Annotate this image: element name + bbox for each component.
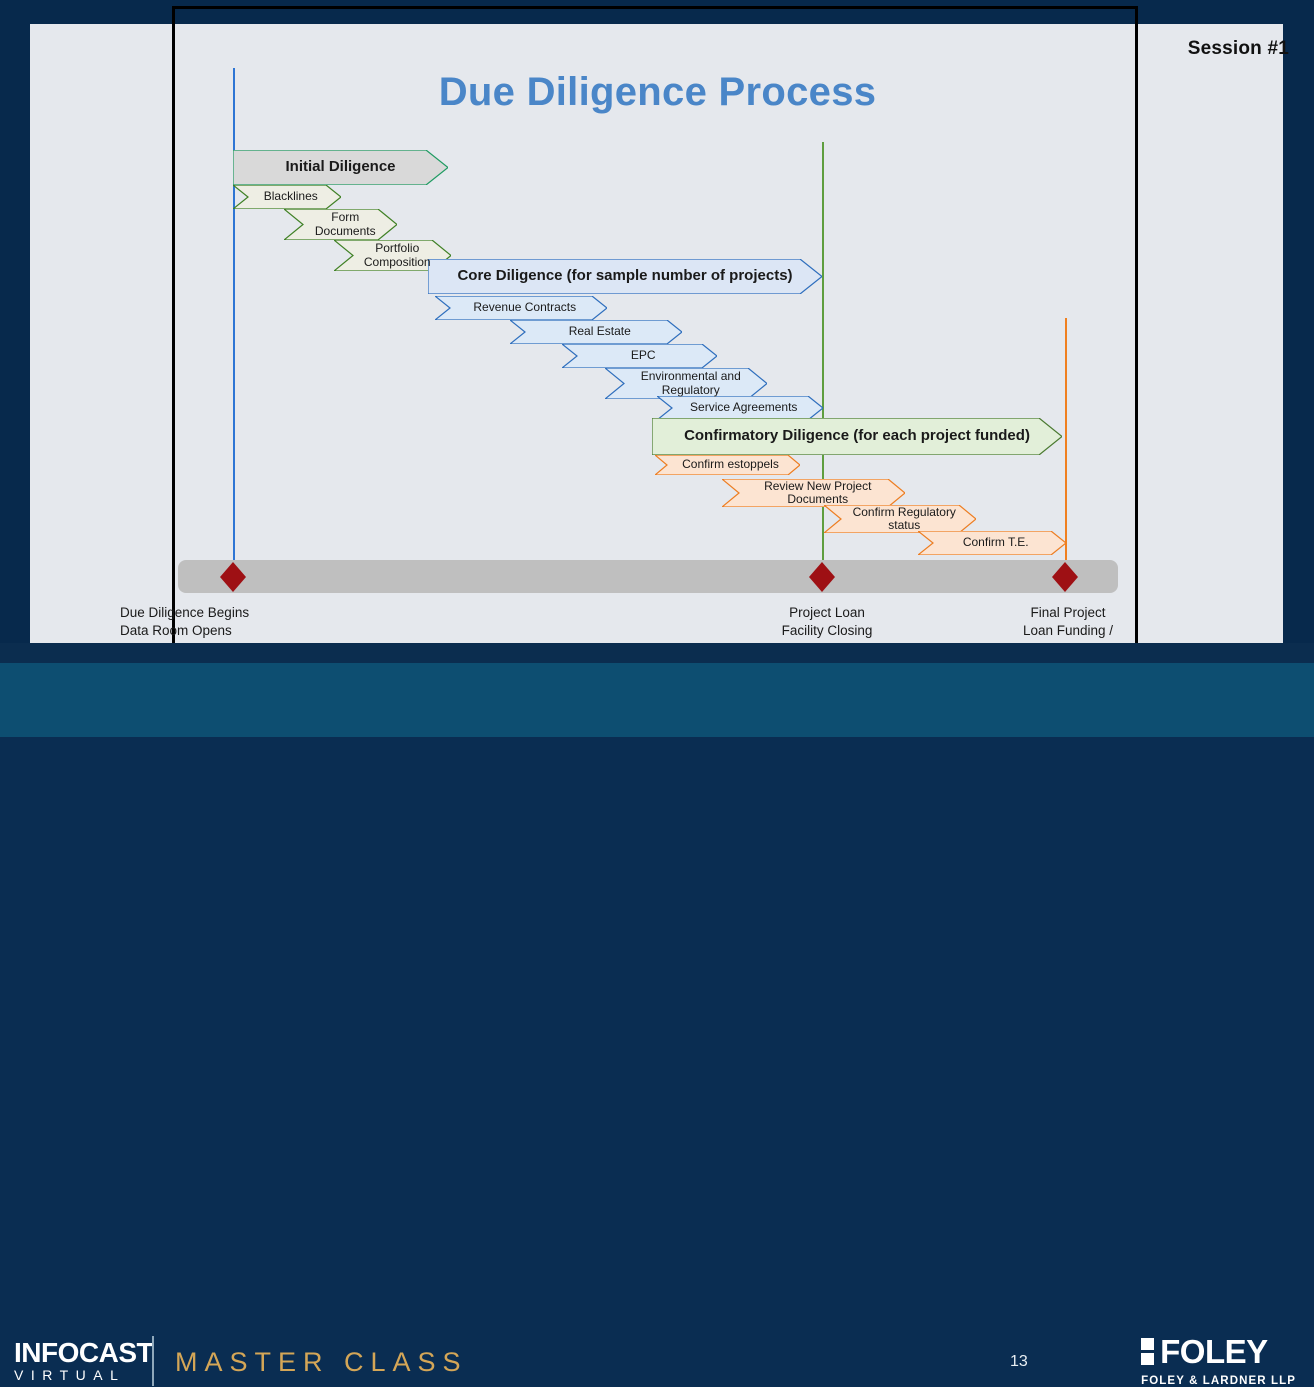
phase-step-core-diligence-3: Environmental and Regulatory xyxy=(605,368,767,399)
phase-header-confirmatory-diligence: Confirmatory Diligence (for each project… xyxy=(652,418,1062,455)
phase-step-confirmatory-diligence-0-label: Confirm estoppels xyxy=(676,458,785,471)
phase-header-initial-diligence: Initial Diligence xyxy=(233,150,448,185)
phase-step-core-diligence-1: Real Estate xyxy=(510,320,682,344)
foley-legal-name: FOLEY & LARDNER LLP xyxy=(1141,1375,1296,1387)
infocast-subtitle: VIRTUAL xyxy=(14,1367,153,1385)
phase-header-core-diligence: Core Diligence (for sample number of pro… xyxy=(428,259,822,294)
phase-step-initial-diligence-0-label: Blacklines xyxy=(258,190,324,203)
page-title: Due Diligence Process xyxy=(300,70,1015,115)
phase-step-confirmatory-diligence-0: Confirm estoppels xyxy=(655,455,800,475)
phase-step-core-diligence-2-label: EPC xyxy=(625,349,662,362)
phase-step-core-diligence-1-label: Real Estate xyxy=(563,325,637,338)
milestone-marker-1 xyxy=(809,562,835,592)
phase-header-confirmatory-diligence-label: Confirmatory Diligence (for each project… xyxy=(678,428,1036,445)
footer-bar: INFOCAST VIRTUAL MASTER CLASS 13 FOLEY F… xyxy=(0,663,1314,737)
diamond-icon xyxy=(809,562,835,592)
phase-step-core-diligence-0: Revenue Contracts xyxy=(435,296,607,320)
phase-step-core-diligence-2: EPC xyxy=(562,344,717,368)
phase-step-core-diligence-4: Service Agreements xyxy=(657,396,823,420)
footer-divider xyxy=(152,1336,154,1386)
phase-step-initial-diligence-1-label: Form Documents xyxy=(309,211,382,238)
diagram-stage: Due Diligence Process Initial DiligenceB… xyxy=(0,0,1314,660)
master-class-label: MASTER CLASS xyxy=(175,1347,468,1378)
milestone-label-1: Project Loan Facility Closing xyxy=(712,604,942,640)
milestone-marker-0 xyxy=(220,562,246,592)
infocast-wordmark: INFOCAST xyxy=(14,1339,153,1367)
phase-header-initial-diligence-label: Initial Diligence xyxy=(279,159,401,176)
phase-step-initial-diligence-1: Form Documents xyxy=(284,209,397,240)
infocast-logo: INFOCAST VIRTUAL xyxy=(14,1339,153,1385)
phase-header-core-diligence-label: Core Diligence (for sample number of pro… xyxy=(451,268,798,285)
phase-step-initial-diligence-0: Blacklines xyxy=(233,185,341,209)
guide-line-final-funding xyxy=(1065,318,1067,560)
milestone-label-0: Due Diligence Begins Data Room Opens xyxy=(120,604,350,640)
phase-step-core-diligence-0-label: Revenue Contracts xyxy=(467,301,582,314)
phase-step-confirmatory-diligence-2: Confirm Regulatory status xyxy=(824,505,976,533)
phase-step-core-diligence-4-label: Service Agreements xyxy=(684,401,803,414)
page-number: 13 xyxy=(1010,1353,1028,1371)
guide-line-due-diligence-start xyxy=(233,68,235,560)
footer-navy-strip xyxy=(0,643,1314,663)
foley-logo-row: FOLEY xyxy=(1141,1335,1296,1368)
phase-step-confirmatory-diligence-1: Review New Project Documents xyxy=(722,479,905,507)
foley-squares-icon xyxy=(1141,1338,1154,1365)
phase-step-confirmatory-diligence-3-label: Confirm T.E. xyxy=(957,536,1035,549)
foley-wordmark: FOLEY xyxy=(1160,1335,1268,1368)
timeline-bar xyxy=(178,560,1118,593)
diamond-icon xyxy=(220,562,246,592)
phase-step-initial-diligence-2-label: Portfolio Composition xyxy=(358,242,437,269)
phase-step-confirmatory-diligence-2-label: Confirm Regulatory status xyxy=(847,506,962,533)
phase-step-initial-diligence-2: Portfolio Composition xyxy=(334,240,451,271)
phase-step-confirmatory-diligence-3: Confirm T.E. xyxy=(918,531,1066,555)
foley-logo: FOLEY FOLEY & LARDNER LLP xyxy=(1141,1335,1296,1387)
phase-step-core-diligence-3-label: Environmental and Regulatory xyxy=(635,370,747,397)
phase-step-confirmatory-diligence-1-label: Review New Project Documents xyxy=(758,480,877,507)
diamond-icon xyxy=(1052,562,1078,592)
milestone-marker-2 xyxy=(1052,562,1078,592)
